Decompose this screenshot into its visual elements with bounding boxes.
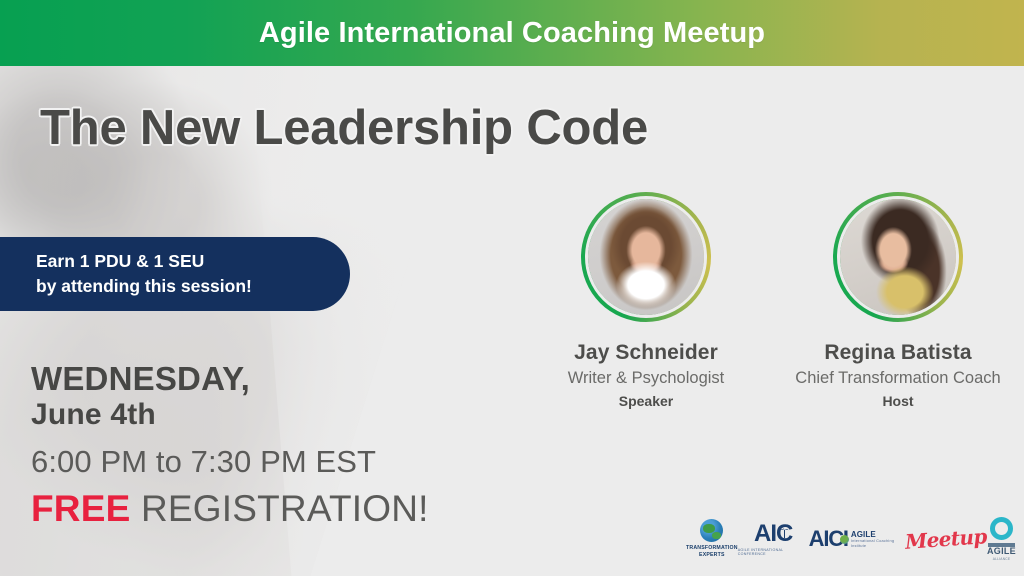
transformation-experts-line-2: EXPERTS bbox=[686, 552, 738, 559]
registration-label: REGISTRATION! bbox=[130, 488, 428, 529]
aic-logo: AIC AGILE INTERNATIONAL CONFERENCE bbox=[738, 522, 809, 556]
aici-side-bottom: International Coaching Institute bbox=[851, 539, 905, 548]
event-time: 6:00 PM to 7:30 PM EST bbox=[31, 442, 429, 482]
page-title: The New Leadership Code bbox=[40, 100, 648, 156]
registration-line: FREE REGISTRATION! bbox=[31, 488, 429, 529]
partner-logo-strip: TRANSFORMATION EXPERTS AIC AGILE INTERNA… bbox=[686, 508, 1016, 570]
speaker-name: Jay Schneider bbox=[531, 341, 761, 365]
agile-alliance-logo: AGILE ALLIANCE bbox=[987, 517, 1016, 561]
aici-side-labels: AGILE International Coaching Institute bbox=[851, 530, 905, 548]
speaker-role: Writer & Psychologist bbox=[531, 369, 761, 388]
meetup-logo: Meetup bbox=[905, 527, 987, 551]
ring-icon bbox=[990, 517, 1013, 540]
event-day: WEDNESDAY, bbox=[31, 362, 429, 397]
aici-logo: AICI AGILE International Coaching Instit… bbox=[809, 528, 906, 550]
header-bar: Agile International Coaching Meetup bbox=[0, 0, 1024, 66]
aic-sub-label: AGILE INTERNATIONAL CONFERENCE bbox=[738, 548, 809, 556]
event-schedule: WEDNESDAY, June 4th 6:00 PM to 7:30 PM E… bbox=[31, 362, 429, 530]
speaker-card-regina-batista: Regina Batista Chief Transformation Coac… bbox=[783, 192, 1013, 409]
pdu-seu-badge: Earn 1 PDU & 1 SEU by attending this ses… bbox=[0, 237, 350, 311]
event-date: June 4th bbox=[31, 397, 429, 434]
pdu-badge-line-1: Earn 1 PDU & 1 SEU bbox=[36, 249, 350, 274]
transformation-experts-label: TRANSFORMATION EXPERTS bbox=[686, 545, 738, 559]
aici-wordmark: AICI AGILE International Coaching Instit… bbox=[809, 528, 906, 550]
speaker-card-jay-schneider: Jay Schneider Writer & Psychologist Spea… bbox=[531, 192, 761, 409]
speaker-tag: Host bbox=[783, 393, 1013, 409]
aic-wordmark: AIC bbox=[754, 522, 792, 546]
agile-alliance-mark: AGILE bbox=[987, 547, 1016, 557]
transformation-experts-logo: TRANSFORMATION EXPERTS bbox=[686, 519, 738, 559]
avatar-ring bbox=[581, 192, 711, 322]
speaker-role: Chief Transformation Coach bbox=[783, 369, 1013, 388]
agile-alliance-sub: ALLIANCE bbox=[993, 557, 1011, 561]
speaker-name: Regina Batista bbox=[783, 341, 1013, 365]
event-poster: Agile International Coaching Meetup The … bbox=[0, 0, 1024, 576]
aici-globe-dot-icon bbox=[840, 535, 849, 544]
aici-mark: AICI bbox=[809, 528, 848, 550]
pdu-badge-line-2: by attending this session! bbox=[36, 274, 350, 299]
speaker-tag: Speaker bbox=[531, 393, 761, 409]
host-photo-regina-batista bbox=[840, 199, 956, 315]
meetup-wordmark: Meetup bbox=[904, 524, 987, 554]
header-title: Agile International Coaching Meetup bbox=[259, 17, 765, 50]
avatar bbox=[837, 196, 959, 318]
registration-free-label: FREE bbox=[31, 488, 130, 529]
speaker-photo-jay-schneider bbox=[588, 199, 704, 315]
avatar-ring bbox=[833, 192, 963, 322]
speaker-list: Jay Schneider Writer & Psychologist Spea… bbox=[520, 192, 1024, 409]
palm-tree-icon bbox=[780, 527, 789, 539]
agile-alliance-label: AGILE ALLIANCE bbox=[987, 543, 1016, 561]
transformation-experts-line-1: TRANSFORMATION bbox=[686, 545, 738, 552]
globe-icon bbox=[700, 519, 723, 542]
avatar bbox=[585, 196, 707, 318]
